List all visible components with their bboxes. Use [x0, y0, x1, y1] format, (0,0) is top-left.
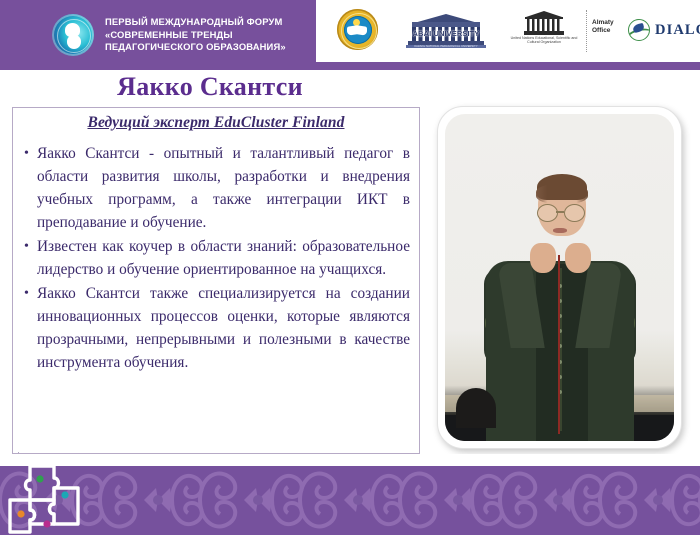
- photo-glasses-right-lens: [564, 204, 585, 222]
- forum-branding: ПЕРВЫЙ МЕЖДУНАРОДНЫЙ ФОРУМ «СОВРЕМЕННЫЕ …: [0, 0, 316, 70]
- almaty-line-1: Almaty: [592, 19, 614, 27]
- kazakh-ornament-pattern: [0, 466, 700, 535]
- unesco-divider: [586, 10, 587, 52]
- photo-hand-right: [565, 243, 591, 273]
- unesco-columns: [527, 19, 561, 31]
- puzzle-pieces-icon: [8, 466, 103, 535]
- partner-logo-panel: ABAI UNIVERSITY KAZAKH NATIONAL PEDAGOGI…: [316, 0, 700, 62]
- page-title: Яакко Скантси: [0, 72, 420, 102]
- dialogue-swoosh-icon: [628, 19, 650, 41]
- list-item: Яакко Скантси - опытный и талантливый пе…: [22, 142, 410, 234]
- puzzle-dot-green: [36, 475, 43, 482]
- puzzle-dot-teal: [61, 491, 68, 498]
- content-text-box: Ведущий эксперт EduCluster Finland Яакко…: [12, 107, 420, 454]
- footer-white-gap: [0, 454, 700, 466]
- dialogue-logo: DIALOGUE: [628, 19, 700, 41]
- subtitle-role: Ведущий эксперт EduCluster Finland: [22, 114, 410, 135]
- abai-university-subtitle: KAZAKH NATIONAL PEDAGOGICAL UNIVERSITY: [406, 45, 486, 48]
- seal-book-left-icon: [347, 25, 357, 36]
- seal-book-right-icon: [357, 25, 367, 36]
- abai-base-upper: [408, 41, 484, 45]
- puzzle-dot-magenta: [43, 520, 50, 527]
- photo-glasses-bridge: [556, 211, 564, 213]
- unesco-caption: United Nations Educational, Scientific a…: [508, 36, 580, 45]
- bullet-list: Яакко Скантси - опытный и талантливый пе…: [22, 142, 410, 374]
- unesco-almaty-office-label: Almaty Office: [592, 19, 614, 35]
- photo-red-cable: [558, 255, 561, 435]
- slide-header: ПЕРВЫЙ МЕЖДУНАРОДНЫЙ ФОРУМ «СОВРЕМЕННЫЕ …: [0, 0, 700, 70]
- forum-title-line-1: ПЕРВЫЙ МЕЖДУНАРОДНЫЙ ФОРУМ: [105, 16, 286, 28]
- unesco-base: [524, 31, 564, 35]
- emblem-figure-bottom: [67, 35, 81, 49]
- unesco-logo: United Nations Educational, Scientific a…: [508, 11, 580, 51]
- photo-hair-sides: [536, 184, 588, 204]
- list-item: Известен как коучер в области знаний: об…: [22, 235, 410, 281]
- abai-university-logo: ABAI UNIVERSITY KAZAKH NATIONAL PEDAGOGI…: [406, 14, 487, 48]
- forum-title: ПЕРВЫЙ МЕЖДУНАРОДНЫЙ ФОРУМ «СОВРЕМЕННЫЕ …: [105, 16, 286, 53]
- forum-title-line-2: «СОВРЕМЕННЫЕ ТРЕНДЫ: [105, 29, 286, 41]
- speaker-photo: [445, 114, 674, 441]
- forum-title-line-3: ПЕДАГОГИЧЕСКОГО ОБРАЗОВАНИЯ»: [105, 41, 286, 53]
- photo-hand-left: [530, 243, 556, 273]
- puzzle-dot-orange: [17, 510, 24, 517]
- kazakhstan-ministry-seal-icon: [337, 9, 378, 50]
- almaty-line-2: Office: [592, 27, 614, 35]
- photo-glasses-left-lens: [537, 204, 558, 222]
- forum-circle-emblem-icon: [52, 14, 94, 56]
- photo-audience-head: [456, 388, 496, 428]
- speaker-photo-frame: [437, 106, 682, 449]
- abai-university-name: ABAI UNIVERSITY: [412, 29, 480, 38]
- unesco-temple-icon: [524, 11, 564, 35]
- slide-footer: [0, 466, 700, 535]
- list-item: Яакко Скантси также специализируется на …: [22, 282, 410, 374]
- dialogue-wordmark: DIALOGUE: [655, 22, 700, 39]
